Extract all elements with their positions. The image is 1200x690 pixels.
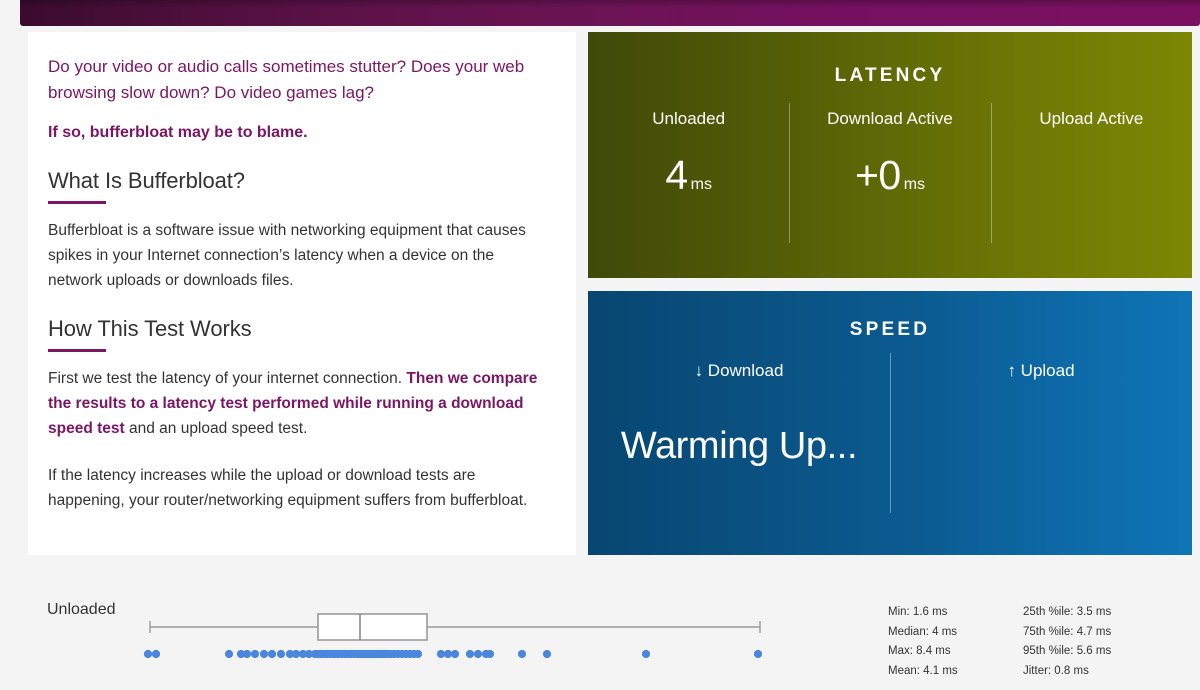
sample-point (466, 650, 474, 658)
sample-point (437, 650, 445, 658)
sample-point (268, 650, 276, 658)
section-heading-what-is-bufferbloat: What Is Bufferbloat? (48, 168, 548, 194)
test-works-text-tail: and an upload speed test. (125, 420, 308, 437)
latency-unit-download-active: ms (904, 176, 925, 193)
stat-max: Max: 8.4 ms (888, 643, 1023, 660)
speed-column-upload: ↑ Upload (890, 361, 1192, 541)
latency-value-upload-active (991, 155, 1192, 196)
latency-column-download-active: Download Active +0ms (789, 109, 990, 247)
test-works-text-lead: First we test the latency of your intern… (48, 370, 406, 387)
section-body-latency-increase: If the latency increases while the uploa… (48, 463, 548, 513)
sample-point (474, 650, 482, 658)
sample-point (543, 650, 551, 658)
stat-median: Median: 4 ms (888, 624, 1023, 641)
latency-stats-grid: Min: 1.6 ms 25th %ile: 3.5 ms Median: 4 … (888, 604, 1188, 680)
sample-point (414, 650, 422, 658)
banner-gloss (20, 0, 1200, 8)
section-body-how-this-test-works: First we test the latency of your intern… (48, 366, 548, 441)
latency-value-unloaded: 4ms (588, 155, 789, 196)
latency-panel-title: LATENCY (588, 32, 1192, 87)
upload-arrow-icon-label: ↑ Upload (890, 361, 1192, 381)
download-arrow-icon-label: ↓ Download (588, 361, 890, 381)
sample-point (144, 650, 152, 658)
sample-point (225, 650, 233, 658)
speed-panel-title: SPEED (588, 291, 1192, 341)
section-body-what-is-bufferbloat: Bufferbloat is a software issue with net… (48, 218, 548, 293)
stat-min: Min: 1.6 ms (888, 604, 1023, 621)
iqr-box (318, 614, 427, 640)
intro-blame-line: If so, bufferbloat may be to blame. (48, 121, 548, 144)
sample-point (451, 650, 459, 658)
stat-p25: 25th %ile: 3.5 ms (1023, 604, 1158, 621)
info-card: Do your video or audio calls sometimes s… (28, 32, 576, 563)
section-heading-how-this-test-works: How This Test Works (48, 316, 548, 342)
top-banner (20, 0, 1200, 26)
sample-point (243, 650, 251, 658)
latency-value-download-active: +0ms (789, 155, 990, 196)
latency-column-unloaded: Unloaded 4ms (588, 109, 789, 247)
latency-label-download-active: Download Active (789, 109, 990, 129)
sample-point (444, 650, 452, 658)
speed-status-download: Warming Up... (588, 425, 890, 468)
sample-point (642, 650, 650, 658)
latency-column-upload-active: Upload Active (991, 109, 1192, 247)
sample-point (292, 650, 300, 658)
speed-column-download: ↓ Download Warming Up... (588, 361, 890, 541)
sample-point (277, 650, 285, 658)
latency-distribution-chart: Unloaded Min: 1.6 ms 25th %ile: 3.5 ms M… (0, 555, 1200, 664)
sample-point (251, 650, 259, 658)
sample-point (518, 650, 526, 658)
stat-p95: 95th %ile: 5.6 ms (1023, 643, 1158, 660)
stat-mean: Mean: 4.1 ms (888, 663, 1023, 680)
latency-label-upload-active: Upload Active (991, 109, 1192, 129)
speed-panel: SPEED ↓ Download Warming Up... ↑ Upload (588, 291, 1192, 565)
latency-panel: LATENCY Unloaded 4ms Download Active +0m… (588, 32, 1192, 278)
speed-columns: ↓ Download Warming Up... ↑ Upload (588, 361, 1192, 541)
latency-columns: Unloaded 4ms Download Active +0ms Upload… (588, 109, 1192, 247)
section-rule (48, 349, 106, 352)
stat-jitter: Jitter: 0.8 ms (1023, 663, 1158, 680)
section-rule (48, 201, 106, 204)
sample-point (260, 650, 268, 658)
intro-paragraph: Do your video or audio calls sometimes s… (48, 54, 548, 105)
sample-point (486, 650, 494, 658)
stat-p75: 75th %ile: 4.7 ms (1023, 624, 1158, 641)
latency-number-unloaded: 4 (665, 152, 687, 198)
sample-point (152, 650, 160, 658)
latency-label-unloaded: Unloaded (588, 109, 789, 129)
sample-point (754, 650, 762, 658)
latency-unit-unloaded: ms (691, 176, 712, 193)
latency-number-download-active: +0 (855, 152, 901, 198)
